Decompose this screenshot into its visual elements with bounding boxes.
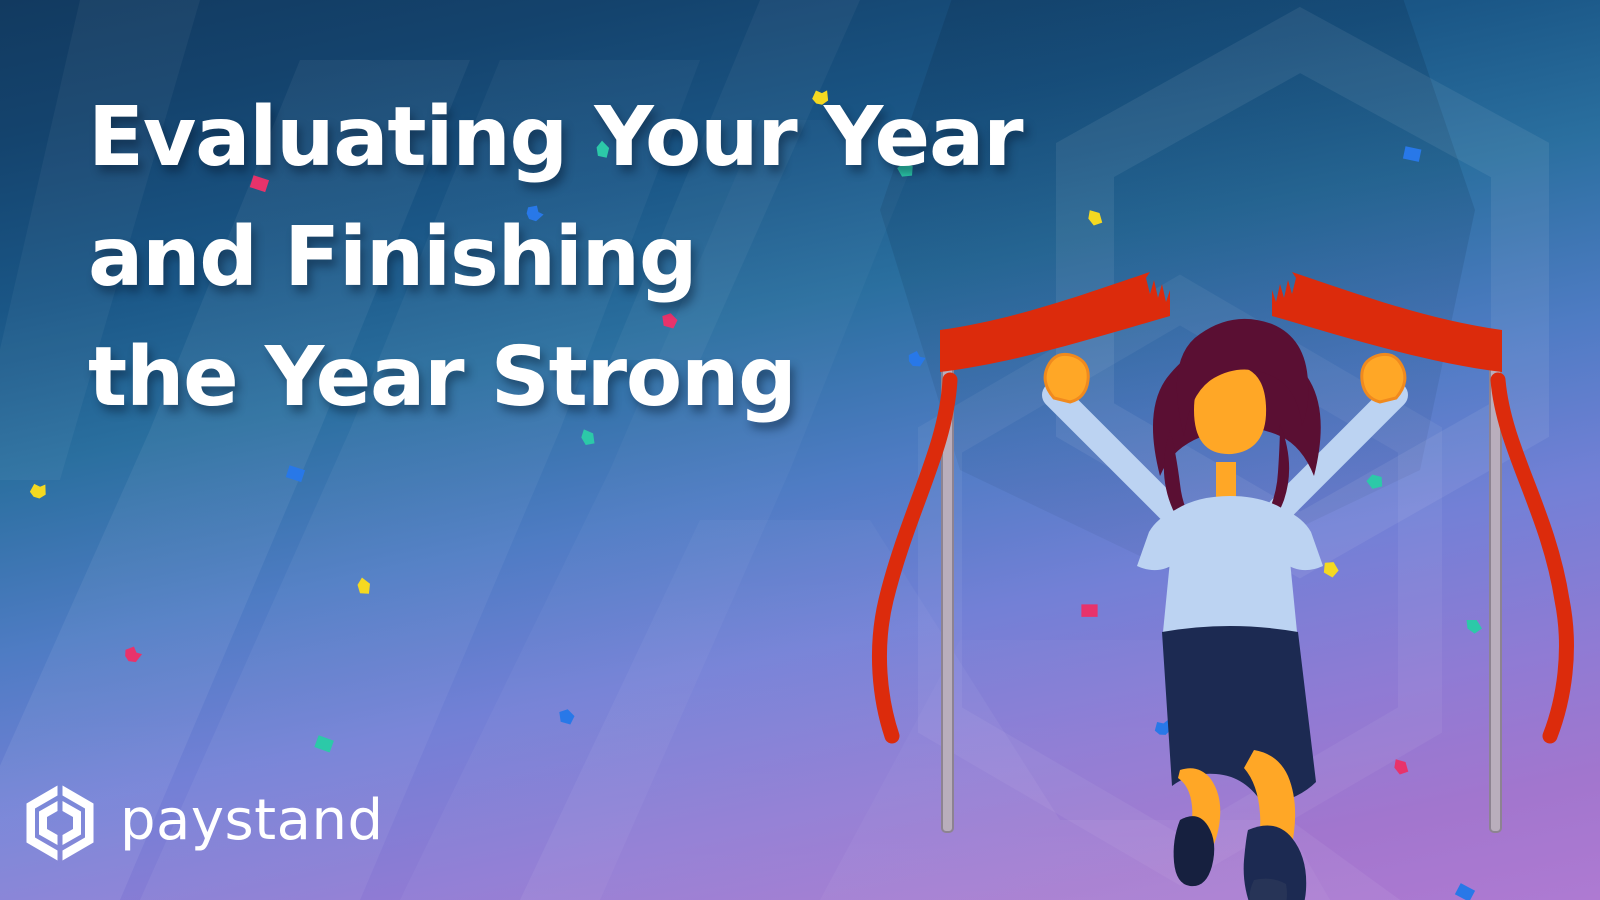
paystand-logo[interactable]: paystand: [22, 784, 384, 862]
banner-canvas: Evaluating Your Year and Finishing the Y…: [0, 0, 1600, 900]
paystand-wordmark: paystand: [120, 793, 384, 853]
celebration-illustration: [850, 180, 1600, 900]
figure-blouse: [1137, 496, 1323, 648]
confetti-piece: [1404, 147, 1421, 161]
ribbon-tail-right: [1498, 380, 1566, 736]
paystand-hexagon-mark: [22, 784, 98, 862]
confetti-piece: [30, 483, 47, 499]
ribbon-tail-left: [879, 380, 950, 736]
